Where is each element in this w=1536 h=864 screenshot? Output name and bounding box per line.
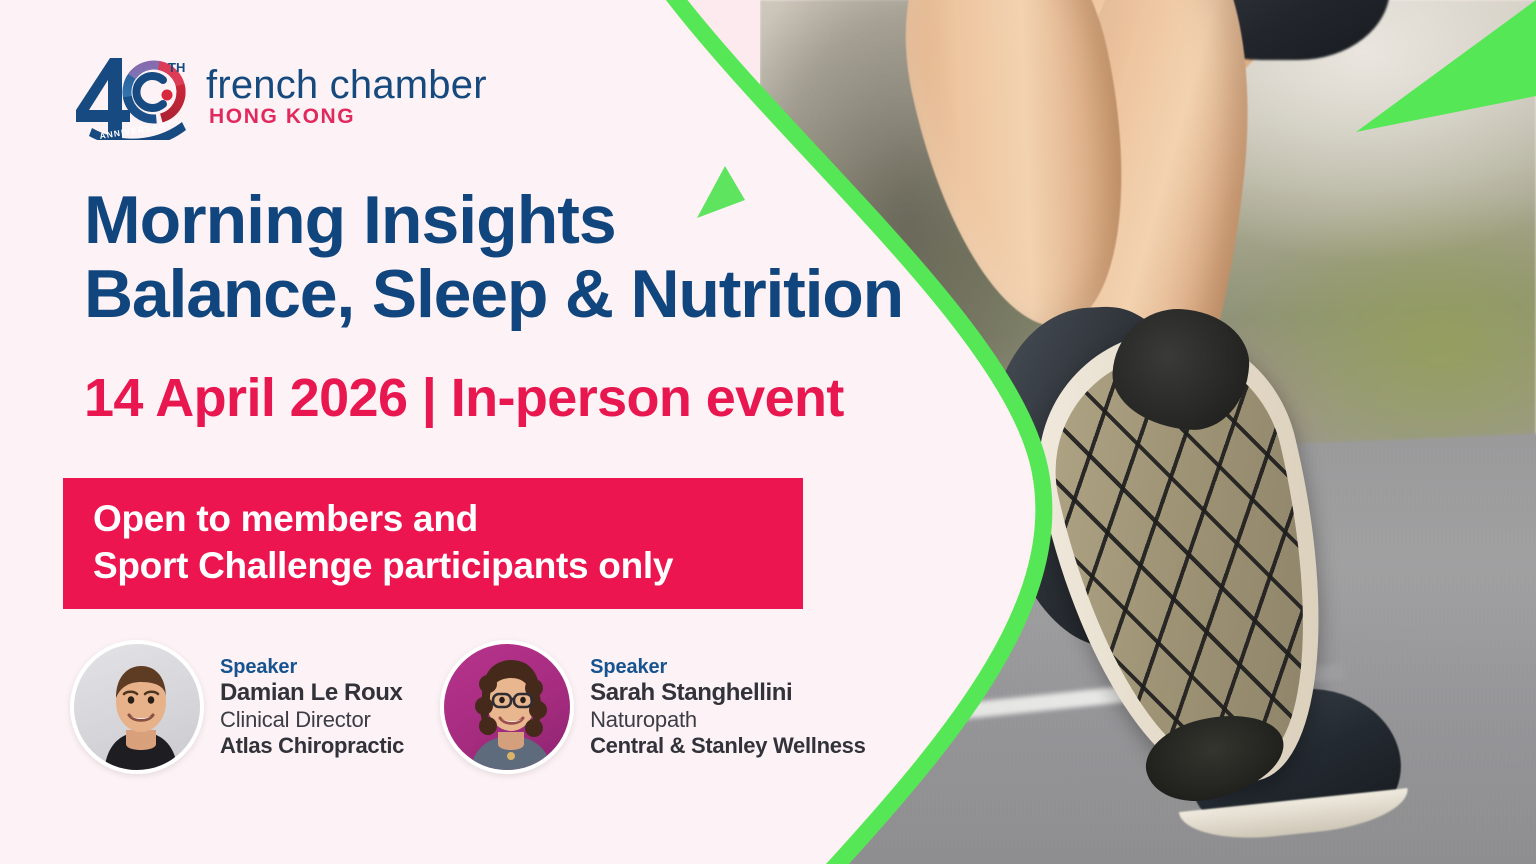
sarah-stanghellini-photo — [440, 640, 574, 774]
headline-line-1: Morning Insights — [84, 186, 1024, 255]
logo-location: HONG KONG — [206, 106, 487, 127]
speaker-card-sarah-stanghellini: Speaker Sarah Stanghellini Naturopath Ce… — [440, 640, 865, 774]
logo-name: french chamber — [206, 65, 487, 105]
french-chamber-logo[interactable]: TH ANNIVERSARY french chamber HONG KONG — [70, 52, 487, 140]
speaker-name: Sarah Stanghellini — [590, 679, 865, 707]
speaker-card-damian-le-roux: Speaker Damian Le Roux Clinical Director… — [70, 640, 404, 774]
speakers-row: Speaker Damian Le Roux Clinical Director… — [70, 640, 866, 774]
eligibility-banner: Open to members and Sport Challenge part… — [63, 478, 803, 609]
content-column: TH ANNIVERSARY french chamber HONG KONG … — [0, 0, 1050, 864]
speaker-details: Speaker Sarah Stanghellini Naturopath Ce… — [590, 656, 865, 758]
event-promo-banner: TH ANNIVERSARY french chamber HONG KONG … — [0, 0, 1536, 864]
avatar-portrait-illustration — [444, 644, 574, 774]
damian-le-roux-photo — [70, 640, 204, 774]
speaker-name: Damian Le Roux — [220, 679, 404, 707]
logo-wordmark: french chamber HONG KONG — [206, 65, 487, 127]
avatar-portrait-illustration — [74, 644, 204, 774]
speaker-details: Speaker Damian Le Roux Clinical Director… — [220, 656, 404, 758]
speaker-title: Naturopath — [590, 707, 865, 733]
speaker-organization: Central & Stanley Wellness — [590, 733, 865, 759]
anniversary-40th-logo-icon: TH ANNIVERSARY — [70, 52, 192, 140]
headline-block: Morning Insights Balance, Sleep & Nutrit… — [84, 186, 1024, 330]
speaker-organization: Atlas Chiropractic — [220, 733, 404, 759]
speaker-role-label: Speaker — [220, 656, 404, 679]
event-dateline: 14 April 2026 | In-person event — [84, 370, 844, 427]
speaker-role-label: Speaker — [590, 656, 865, 679]
eligibility-line-2: Sport Challenge participants only — [93, 543, 803, 590]
headline-line-2: Balance, Sleep & Nutrition — [84, 259, 1024, 330]
speaker-title: Clinical Director — [220, 707, 404, 733]
eligibility-line-1: Open to members and — [93, 496, 803, 543]
svg-text:TH: TH — [168, 60, 185, 75]
